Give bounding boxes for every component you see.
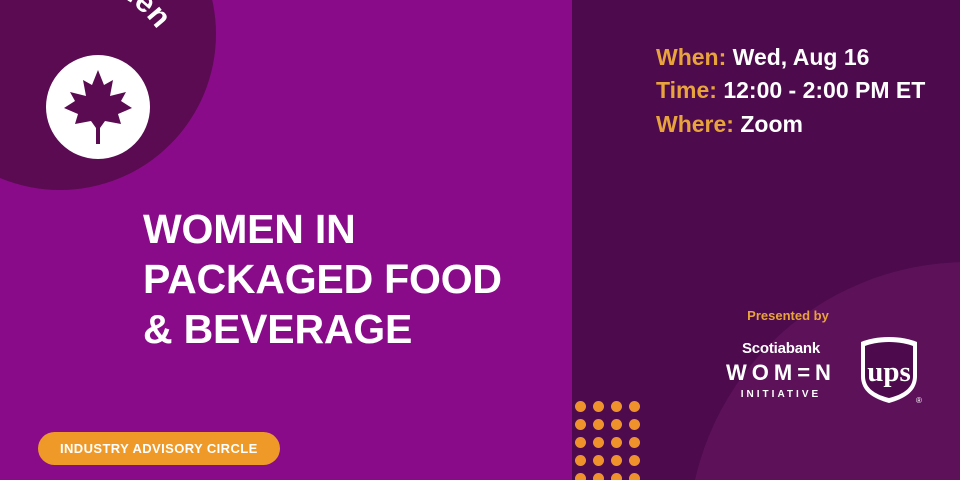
dot xyxy=(629,401,640,412)
ups-registered-mark: ® xyxy=(916,396,922,405)
event-title-line-2: PACKAGED FOOD xyxy=(143,254,502,304)
scotiabank-wordmark: Scotiabank xyxy=(726,341,836,356)
dot xyxy=(575,437,586,448)
dot xyxy=(593,437,604,448)
industry-advisory-circle-badge: INDUSTRY ADVISORY CIRCLE xyxy=(38,432,280,465)
dot xyxy=(629,473,640,480)
detail-row-where: Where: Zoom xyxy=(656,109,925,139)
dot xyxy=(593,401,604,412)
maple-leaf-icon xyxy=(60,66,136,148)
ups-logo: ups ® xyxy=(858,336,920,404)
dot xyxy=(575,401,586,412)
sponsor-logos: Scotiabank WOM=N INITIATIVE ups ® xyxy=(726,336,920,404)
detail-value-when: Wed, Aug 16 xyxy=(733,44,870,70)
event-title-line-3: & BEVERAGE xyxy=(143,304,502,354)
dot xyxy=(611,455,622,466)
dot xyxy=(611,437,622,448)
dot xyxy=(611,419,622,430)
dot xyxy=(611,473,622,480)
detail-label-when: When: xyxy=(656,44,726,70)
event-title: WOMEN IN PACKAGED FOOD & BEVERAGE xyxy=(143,204,502,354)
detail-label-where: Where: xyxy=(656,111,734,137)
presented-by-label: Presented by xyxy=(747,308,829,323)
dot xyxy=(575,419,586,430)
event-poster: Startup Women When: Wed, Aug 16 Time: 12… xyxy=(0,0,960,480)
dot xyxy=(629,419,640,430)
detail-row-time: Time: 12:00 - 2:00 PM ET xyxy=(656,75,925,105)
dot xyxy=(575,455,586,466)
ups-shield-icon: ups xyxy=(858,336,920,404)
scotiabank-women-wordmark: WOM=N xyxy=(726,362,836,384)
event-title-line-1: WOMEN IN xyxy=(143,204,502,254)
dot xyxy=(629,437,640,448)
detail-value-where: Zoom xyxy=(740,111,803,137)
scotiabank-initiative-wordmark: INITIATIVE xyxy=(726,390,836,400)
scotiabank-women-initiative-logo: Scotiabank WOM=N INITIATIVE xyxy=(726,341,836,400)
detail-value-time: 12:00 - 2:00 PM ET xyxy=(723,77,925,103)
dot xyxy=(593,455,604,466)
detail-label-time: Time: xyxy=(656,77,717,103)
detail-row-when: When: Wed, Aug 16 xyxy=(656,42,925,72)
dot xyxy=(611,401,622,412)
event-details: When: Wed, Aug 16 Time: 12:00 - 2:00 PM … xyxy=(656,42,925,142)
dot xyxy=(575,473,586,480)
dot xyxy=(629,455,640,466)
dot xyxy=(593,419,604,430)
dot xyxy=(593,473,604,480)
decorative-dot-grid xyxy=(572,398,644,480)
ups-wordmark: ups xyxy=(867,356,911,388)
